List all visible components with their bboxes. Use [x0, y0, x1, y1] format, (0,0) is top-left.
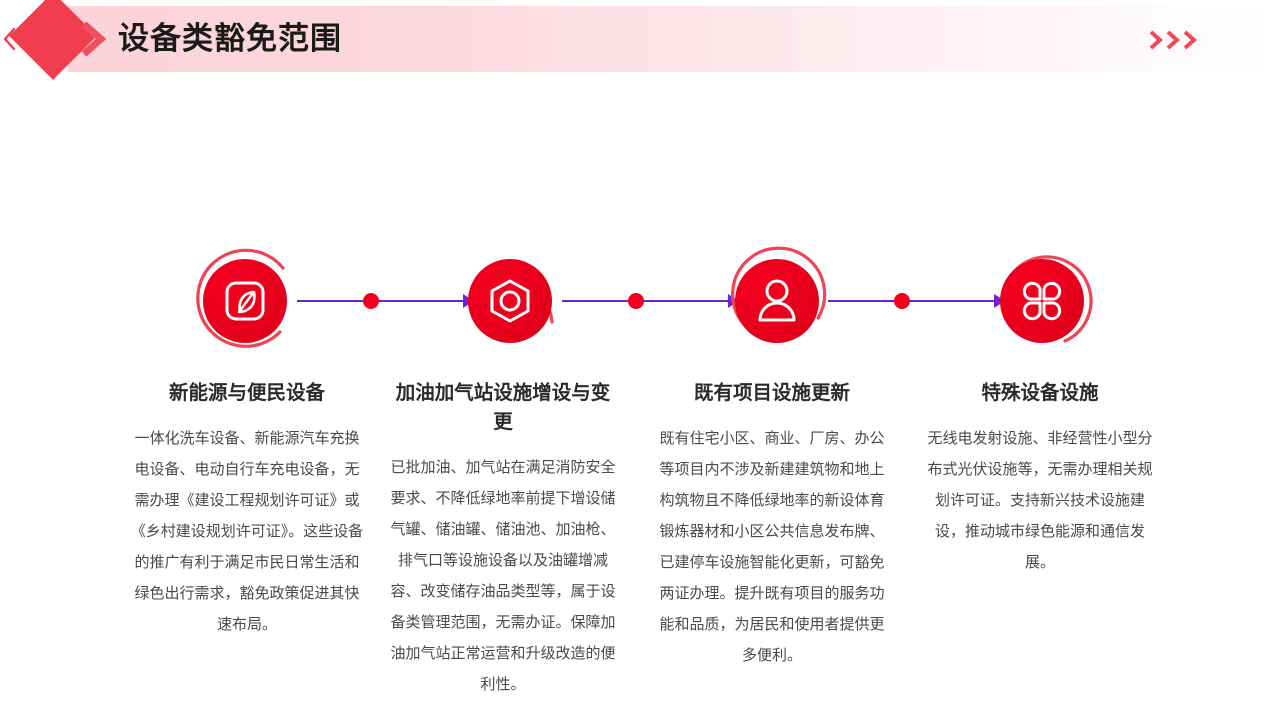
timeline-node-1[interactable]	[190, 246, 300, 356]
connector-dot	[894, 293, 910, 309]
timeline-connector	[562, 290, 738, 312]
column-body: 无线电发射设施、非经营性小型分布式光伏设施等，无需办理相关规划许可证。支持新兴技…	[926, 423, 1154, 578]
connector-line	[562, 300, 738, 302]
content-column-2: 加油加气站设施增设与变更 已批加油、加气站在满足消防安全要求、不降低绿地率前提下…	[390, 378, 616, 700]
leaf-in-square-icon	[203, 259, 287, 343]
content-column-4: 特殊设备设施 无线电发射设施、非经营性小型分布式光伏设施等，无需办理相关规划许可…	[926, 378, 1154, 578]
timeline-node-2[interactable]	[455, 246, 565, 356]
connector-dot	[628, 293, 644, 309]
timeline-node-4[interactable]	[987, 246, 1097, 356]
timeline-connector	[828, 290, 1004, 312]
column-body: 已批加油、加气站在满足消防安全要求、不降低绿地率前提下增设储气罐、储油罐、储油池…	[390, 452, 616, 700]
user-icon	[735, 259, 819, 343]
connector-line	[828, 300, 1004, 302]
triple-chevron-right-icon	[1148, 29, 1198, 51]
slide-root: 设备类豁免范围	[0, 0, 1280, 720]
clover-grid-icon	[1000, 259, 1084, 343]
timeline-row	[0, 246, 1280, 356]
column-body: 一体化洗车设备、新能源汽车充换电设备、电动自行车充电设备，无需办理《建设工程规划…	[128, 423, 366, 640]
timeline-connector	[297, 290, 473, 312]
connector-line	[297, 300, 473, 302]
connector-dot	[363, 293, 379, 309]
content-column-1: 新能源与便民设备 一体化洗车设备、新能源汽车充换电设备、电动自行车充电设备，无需…	[128, 378, 366, 640]
chevron-right-icon	[80, 22, 108, 56]
column-title: 加油加气站设施增设与变更	[390, 378, 616, 436]
column-body: 既有住宅小区、商业、厂房、办公等项目内不涉及新建建筑物和地上构筑物且不降低绿地率…	[658, 423, 886, 671]
column-title: 特殊设备设施	[926, 378, 1154, 407]
column-title: 新能源与便民设备	[128, 378, 366, 407]
content-column-3: 既有项目设施更新 既有住宅小区、商业、厂房、办公等项目内不涉及新建建筑物和地上构…	[658, 378, 886, 671]
hex-nut-icon	[468, 259, 552, 343]
page-title: 设备类豁免范围	[118, 18, 342, 60]
slide-header: 设备类豁免范围	[0, 0, 1280, 78]
column-title: 既有项目设施更新	[658, 378, 886, 407]
timeline-node-3[interactable]	[722, 246, 832, 356]
